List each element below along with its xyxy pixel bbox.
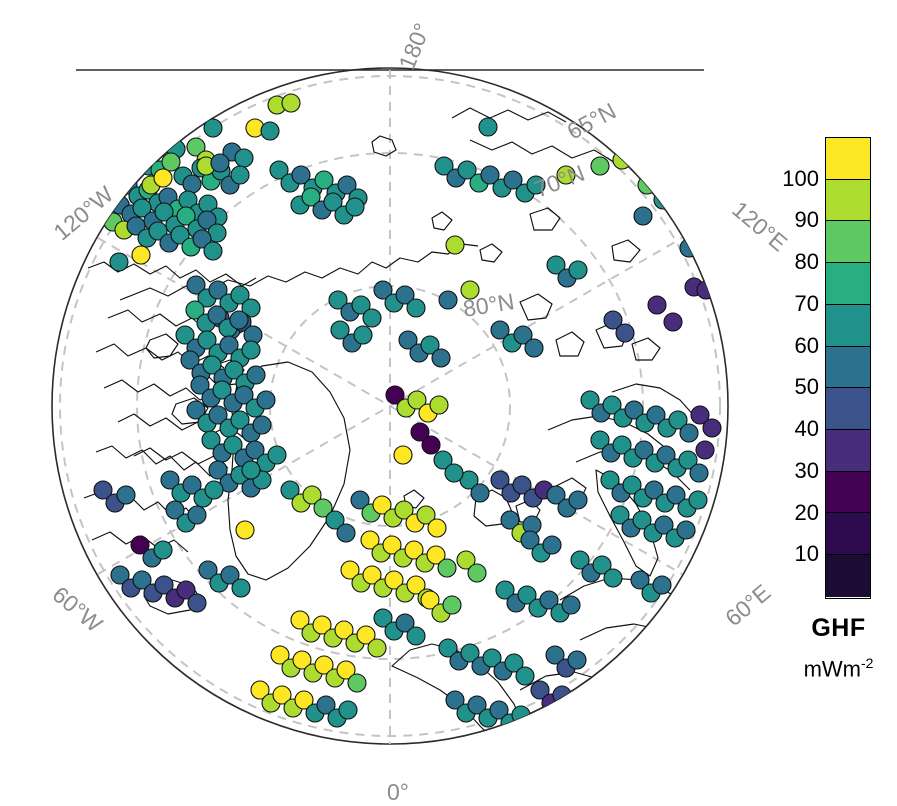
ghf-point: [247, 366, 265, 384]
ghf-point: [394, 446, 412, 464]
ghf-point: [110, 253, 128, 271]
colorbar-band-10-20: [826, 513, 870, 555]
colorbar-tick-40: 40: [795, 418, 819, 440]
ghf-point: [562, 596, 580, 614]
legend-units: mWm-2: [780, 655, 897, 682]
ghf-point: [236, 521, 254, 539]
ghf-point: [564, 699, 582, 717]
ghf-point: [525, 339, 543, 357]
ghf-point: [445, 464, 463, 482]
colorbar-tick-10: 10: [795, 543, 819, 565]
arctic-map-panel: 180°65°N70°N80°N120°E60°E0°60°W120°W: [0, 0, 775, 799]
ghf-point: [438, 559, 456, 577]
ghf-point: [348, 674, 366, 692]
ghf-point: [231, 166, 249, 184]
ghf-point: [479, 118, 497, 136]
colorbar-band-40-50: [826, 388, 870, 430]
ghf-point: [205, 481, 223, 499]
colorbar-tick-20: 20: [795, 502, 819, 524]
ghf-point: [430, 396, 448, 414]
ghf-point: [363, 309, 381, 327]
ghf-point: [257, 391, 275, 409]
ghf-point: [242, 341, 260, 359]
ghf-point: [634, 207, 652, 225]
colorbar-band-60-70: [826, 305, 870, 347]
ghf-point: [677, 521, 695, 539]
ghf-point: [368, 639, 386, 657]
ghf-point: [653, 576, 671, 594]
ghf-point: [407, 627, 425, 645]
ghf-point: [604, 569, 622, 587]
ghf-point: [471, 484, 489, 502]
ghf-point: [516, 667, 534, 685]
legend-title: GHF: [780, 614, 897, 643]
ghf-point: [253, 416, 271, 434]
ghf-point: [703, 419, 721, 437]
legend-units-exponent: -2: [861, 655, 873, 671]
ghf-point: [188, 594, 206, 612]
ghf-legend: 100908070605040302010 GHF mWm-2: [780, 0, 897, 799]
ghf-point: [204, 242, 222, 260]
colorbar-band-80-90: [826, 221, 870, 263]
colorbar-band-90-100: [826, 180, 870, 222]
ghf-point: [523, 719, 541, 737]
ghf-point: [468, 564, 486, 582]
ghf-point: [680, 424, 698, 442]
ghf-point: [690, 464, 708, 482]
ghf-point: [543, 536, 561, 554]
ghf-point: [446, 236, 464, 254]
ghf-point: [337, 524, 355, 542]
colorbar-tick-60: 60: [795, 335, 819, 357]
colorbar-tick-80: 80: [795, 251, 819, 273]
ghf-point: [282, 94, 300, 112]
ghf-point: [664, 313, 682, 331]
ghf-point: [235, 149, 253, 167]
colorbar-band-<10: [826, 555, 870, 597]
ghf-point: [443, 596, 461, 614]
ghf-point: [407, 299, 425, 317]
ghf-point: [616, 324, 634, 342]
ghf-point: [162, 153, 180, 171]
ghf-point: [422, 436, 440, 454]
ghf-point: [591, 157, 609, 175]
ghf-point: [568, 651, 586, 669]
ghf-point: [242, 461, 260, 479]
colorbar-band-50-60: [826, 347, 870, 389]
ghf-point: [569, 261, 587, 279]
ghf-point: [268, 446, 286, 464]
map-canvas: [0, 0, 775, 799]
ghf-point: [697, 281, 715, 299]
ghf-point: [569, 491, 587, 509]
ghf-point: [439, 291, 457, 309]
ghf-point: [575, 691, 593, 709]
colorbar-band-70-80: [826, 263, 870, 305]
ghf-point: [132, 246, 150, 264]
ghf-point: [154, 541, 172, 559]
figure-root: 180°65°N70°N80°N120°E60°E0°60°W120°W 100…: [0, 0, 897, 799]
ghf-point: [183, 175, 201, 193]
ghf-point: [689, 491, 707, 509]
ghf-point: [696, 441, 714, 459]
colorbar-tick-100: 100: [782, 168, 819, 190]
graticule-label-lon-0: 0°: [387, 779, 409, 806]
colorbar-tick-90: 90: [795, 209, 819, 231]
ghf-point: [188, 506, 206, 524]
colorbar-tick-50: 50: [795, 376, 819, 398]
ghf-point: [648, 296, 666, 314]
ghf-point: [354, 326, 372, 344]
ghf-point: [691, 221, 709, 239]
legend-units-main: mWm: [804, 656, 861, 681]
colorbar-tick-70: 70: [795, 293, 819, 315]
ghf-point: [339, 701, 357, 719]
colorbar-tick-30: 30: [795, 460, 819, 482]
ghf-point: [211, 154, 229, 172]
ghf-point: [261, 122, 279, 140]
ghf-point: [230, 311, 248, 329]
ghf-point: [432, 349, 450, 367]
ghf-point: [117, 486, 135, 504]
ghf-point: [154, 169, 172, 187]
ghf-point: [232, 579, 250, 597]
colorbar-band-30-40: [826, 430, 870, 472]
colorbar-band->100: [826, 138, 870, 180]
colorbar-band-20-30: [826, 472, 870, 514]
colorbar: [825, 137, 871, 599]
ghf-point: [346, 198, 364, 216]
ghf-point: [428, 519, 446, 537]
